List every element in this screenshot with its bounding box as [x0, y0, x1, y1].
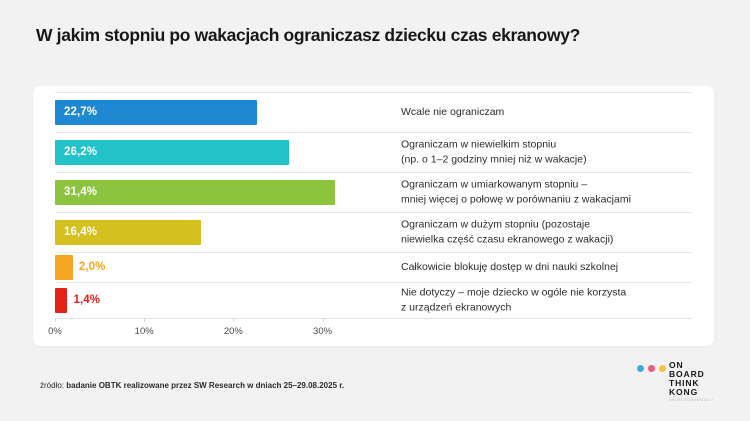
- category-label: Ograniczam w dużym stopniu (pozostajenie…: [401, 218, 701, 247]
- bar-cell: 2,0%: [55, 252, 385, 282]
- category-label-line: niewielka część czasu ekranowego z wakac…: [401, 232, 701, 247]
- chart-page: W jakim stopniu po wakacjach ograniczasz…: [0, 0, 750, 421]
- chart-row: 31,4%Ograniczam w umiarkowanym stopniu –…: [33, 172, 714, 212]
- category-label: Ograniczam w umiarkowanym stopniu –mniej…: [401, 178, 701, 207]
- category-label-line: Ograniczam w niewielkim stopniu: [401, 138, 701, 153]
- category-label: Ograniczam w niewielkim stopniu(np. o 1–…: [401, 138, 701, 167]
- bar-value-label: 31,4%: [55, 186, 97, 198]
- category-label-line: Wcale nie ograniczam: [401, 105, 701, 120]
- bar-value-label: 2,0%: [79, 261, 106, 273]
- chart-panel: 22,7%Wcale nie ograniczam26,2%Ograniczam…: [33, 86, 714, 346]
- category-label-line: Całkowicie blokuję dostęp w dni nauki sz…: [401, 260, 701, 275]
- chart-row: 26,2%Ograniczam w niewielkim stopniu(np.…: [33, 132, 714, 172]
- logo-tagline: GRUPA KOMUNIKACJI: [669, 398, 713, 402]
- bar[interactable]: 26,2%: [55, 140, 289, 165]
- axis-tick: [55, 318, 56, 322]
- bar[interactable]: 22,7%: [55, 100, 257, 125]
- logo-line-4: KONG: [669, 388, 705, 397]
- bar[interactable]: [55, 255, 73, 280]
- bar-cell: 1,4%: [55, 282, 385, 318]
- source-text: badanie OBTK realizowane przez SW Resear…: [66, 381, 344, 390]
- category-label-line: Ograniczam w umiarkowanym stopniu –: [401, 178, 701, 193]
- bar-cell: 26,2%: [55, 132, 385, 172]
- category-label-line: mniej więcej o połowę w porównaniu z wak…: [401, 192, 701, 207]
- bar[interactable]: [55, 288, 67, 313]
- category-label: Nie dotyczy – moje dziecko w ogóle nie k…: [401, 286, 701, 315]
- logo-wordmark: ON BOARD THINK KONG: [669, 361, 705, 397]
- axis-tick-label: 20%: [224, 326, 243, 337]
- chart-row: 2,0%Całkowicie blokuję dostęp w dni nauk…: [33, 252, 714, 282]
- bar-cell: 22,7%: [55, 92, 385, 132]
- chart-row: 22,7%Wcale nie ograniczam: [33, 92, 714, 132]
- bar-value-label: 26,2%: [55, 146, 97, 158]
- logo-dots: [637, 365, 666, 372]
- category-label-line: Ograniczam w dużym stopniu (pozostaje: [401, 218, 701, 233]
- axis-tick-label: 0%: [48, 326, 62, 337]
- logo-onboard-think-kong: ON BOARD THINK KONG GRUPA KOMUNIKACJI: [637, 361, 719, 403]
- bar-value-label: 1,4%: [73, 294, 100, 306]
- logo-dot-3: [659, 365, 666, 372]
- category-label-line: z urządzeń ekranowych: [401, 300, 701, 315]
- axis-tick: [323, 318, 324, 322]
- axis-tick: [233, 318, 234, 322]
- category-label-line: (np. o 1–2 godziny mniej niż w wakacje): [401, 152, 701, 167]
- x-axis: 0%10%20%30%: [55, 318, 692, 346]
- category-label-line: Nie dotyczy – moje dziecko w ogóle nie k…: [401, 286, 701, 301]
- category-label: Wcale nie ograniczam: [401, 105, 701, 120]
- bar-chart: 22,7%Wcale nie ograniczam26,2%Ograniczam…: [33, 86, 714, 346]
- logo-dot-2: [648, 365, 655, 372]
- axis-baseline: [55, 318, 692, 319]
- source-note: źródło: badanie OBTK realizowane przez S…: [40, 381, 344, 390]
- bar-value-label: 22,7%: [55, 106, 97, 118]
- axis-tick-label: 10%: [135, 326, 154, 337]
- axis-tick-label: 30%: [313, 326, 332, 337]
- bar-cell: 31,4%: [55, 172, 385, 212]
- source-label: źródło:: [40, 381, 66, 390]
- bar[interactable]: 31,4%: [55, 180, 335, 205]
- bar-cell: 16,4%: [55, 212, 385, 252]
- category-label: Całkowicie blokuję dostęp w dni nauki sz…: [401, 260, 701, 275]
- logo-dot-1: [637, 365, 644, 372]
- chart-row: 1,4%Nie dotyczy – moje dziecko w ogóle n…: [33, 282, 714, 318]
- page-title: W jakim stopniu po wakacjach ograniczasz…: [36, 24, 726, 46]
- chart-row: 16,4%Ograniczam w dużym stopniu (pozosta…: [33, 212, 714, 252]
- bar-value-label: 16,4%: [55, 226, 97, 238]
- bar[interactable]: 16,4%: [55, 220, 201, 245]
- axis-tick: [144, 318, 145, 322]
